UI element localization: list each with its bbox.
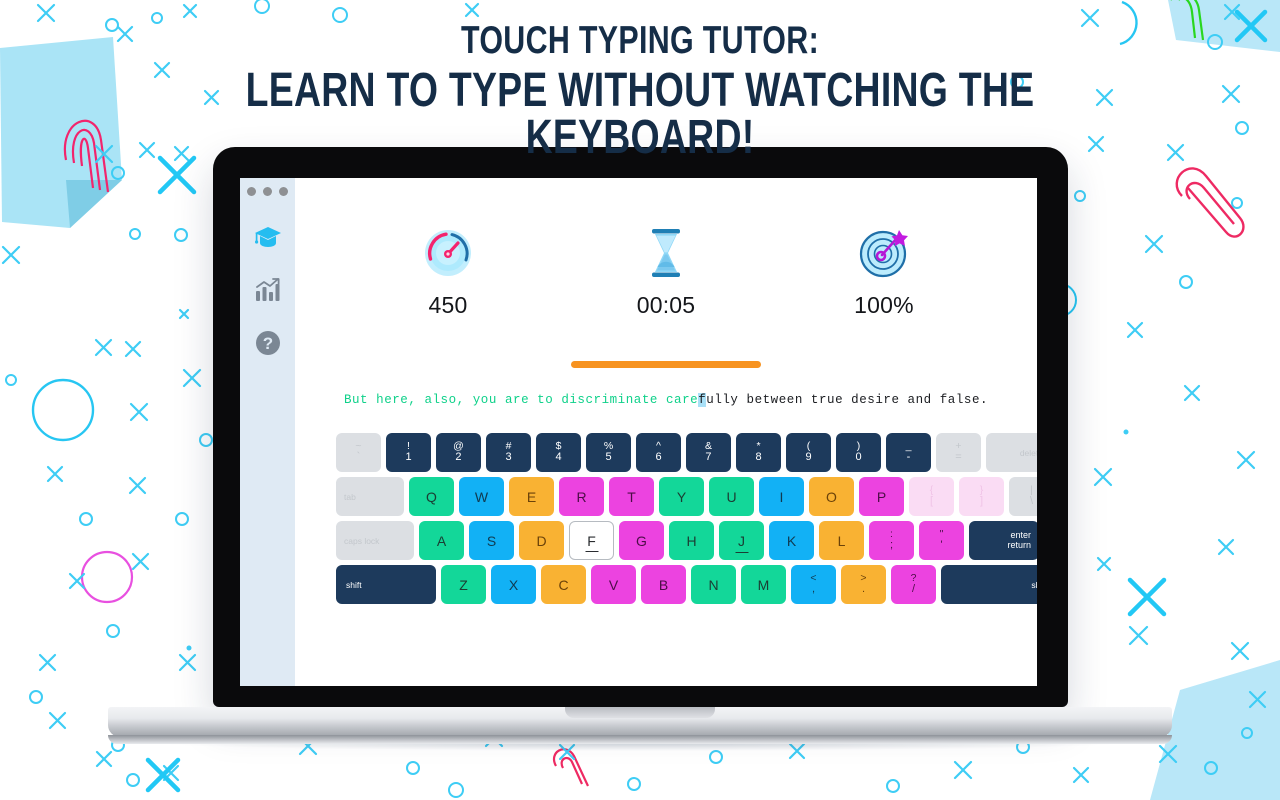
- key-1[interactable]: !1: [386, 433, 431, 472]
- stat-speed: 450: [398, 226, 498, 319]
- key-delete[interactable]: delete: [986, 433, 1037, 472]
- laptop-screen: ?: [240, 178, 1037, 686]
- page-title: TOUCH TYPING TUTOR: LEARN TO TYPE WITHOU…: [0, 22, 1280, 161]
- key-enter[interactable]: enterreturn: [969, 521, 1037, 560]
- remaining-text: ully between true desire and false.: [706, 393, 988, 407]
- key-period[interactable]: >.: [841, 565, 886, 604]
- key-r[interactable]: R: [559, 477, 604, 516]
- key-bracket-right[interactable]: }]: [959, 477, 1004, 516]
- stat-accuracy: 100%: [834, 226, 934, 319]
- headline-line-2: LEARN TO TYPE WITHOUT WATCHING THE KEYBO…: [141, 67, 1139, 161]
- help-circle-icon: ?: [255, 330, 281, 356]
- target-icon: [858, 227, 910, 279]
- key-d[interactable]: D: [519, 521, 564, 560]
- key-6[interactable]: ^6: [636, 433, 681, 472]
- key-slash[interactable]: ?/: [891, 565, 936, 604]
- key-caps-lock[interactable]: caps lock: [336, 521, 414, 560]
- key-t[interactable]: T: [609, 477, 654, 516]
- key-n[interactable]: N: [691, 565, 736, 604]
- key-v[interactable]: V: [591, 565, 636, 604]
- key-comma[interactable]: <,: [791, 565, 836, 604]
- key-y[interactable]: Y: [659, 477, 704, 516]
- typing-text-line: But here, also, you are to discriminate …: [295, 393, 1037, 407]
- app-main: 450 00:: [295, 178, 1037, 686]
- stat-value-accuracy: 100%: [834, 292, 934, 319]
- stat-icon-wrap: [834, 226, 934, 280]
- key-g[interactable]: G: [619, 521, 664, 560]
- key-s[interactable]: S: [469, 521, 514, 560]
- stat-icon-wrap: [398, 226, 498, 280]
- key-8[interactable]: *8: [736, 433, 781, 472]
- key-i[interactable]: I: [759, 477, 804, 516]
- key-7[interactable]: &7: [686, 433, 731, 472]
- key-h[interactable]: H: [669, 521, 714, 560]
- key-q[interactable]: Q: [409, 477, 454, 516]
- key-semicolon[interactable]: :;: [869, 521, 914, 560]
- stat-value-time: 00:05: [616, 292, 716, 319]
- headline-line-1: TOUCH TYPING TUTOR:: [141, 22, 1139, 60]
- laptop-base: [108, 707, 1172, 737]
- key-equals[interactable]: +=: [936, 433, 981, 472]
- key-o[interactable]: O: [809, 477, 854, 516]
- key-bracket-left[interactable]: {[: [909, 477, 954, 516]
- key-m[interactable]: M: [741, 565, 786, 604]
- keyboard-row-numbers: ~` !1 @2 #3 $4 %5 ^6 &7 *8 (9 )0 _- += d…: [336, 433, 996, 472]
- stats-row: 450 00:: [295, 226, 1037, 319]
- window-dot-close[interactable]: [247, 187, 256, 196]
- laptop-foot: [108, 735, 1172, 744]
- key-shift-left[interactable]: shift: [336, 565, 436, 604]
- key-3[interactable]: #3: [486, 433, 531, 472]
- keyboard-row-home: caps lock A S D F G H J K L :; "' enterr…: [336, 521, 996, 560]
- key-quote[interactable]: "': [919, 521, 964, 560]
- speedometer-icon: [422, 227, 474, 279]
- bar-chart-icon: [255, 278, 281, 302]
- progress-bar-wrap: [295, 361, 1037, 368]
- key-e[interactable]: E: [509, 477, 554, 516]
- key-9[interactable]: (9: [786, 433, 831, 472]
- sidebar-item-statistics[interactable]: [253, 275, 283, 305]
- typed-text: But here, also, you are to discriminate …: [344, 393, 698, 407]
- progress-bar: [571, 361, 761, 368]
- key-minus[interactable]: _-: [886, 433, 931, 472]
- key-z[interactable]: Z: [441, 565, 486, 604]
- stat-time: 00:05: [616, 226, 716, 319]
- key-f[interactable]: F: [569, 521, 614, 560]
- keyboard-row-qwerty: tab Q W E R T Y U I O P {[ }] |\: [336, 477, 996, 516]
- graduation-cap-icon: [254, 226, 282, 248]
- virtual-keyboard: ~` !1 @2 #3 $4 %5 ^6 &7 *8 (9 )0 _- += d…: [336, 433, 996, 604]
- key-c[interactable]: C: [541, 565, 586, 604]
- stat-icon-wrap: [616, 226, 716, 280]
- sidebar-nav: ?: [253, 222, 283, 358]
- key-0[interactable]: )0: [836, 433, 881, 472]
- key-x[interactable]: X: [491, 565, 536, 604]
- key-j[interactable]: J: [719, 521, 764, 560]
- key-tab[interactable]: tab: [336, 477, 404, 516]
- keyboard-row-bottom: shift Z X C V B N M <, >. ?/ shift: [336, 565, 996, 604]
- key-u[interactable]: U: [709, 477, 754, 516]
- key-k[interactable]: K: [769, 521, 814, 560]
- hourglass-icon: [643, 227, 689, 279]
- key-p[interactable]: P: [859, 477, 904, 516]
- app-sidebar: ?: [240, 178, 295, 686]
- key-5[interactable]: %5: [586, 433, 631, 472]
- key-shift-right[interactable]: shift: [941, 565, 1037, 604]
- window-dot-maximize[interactable]: [279, 187, 288, 196]
- window-dot-minimize[interactable]: [263, 187, 272, 196]
- key-backtick[interactable]: ~`: [336, 433, 381, 472]
- window-controls: [247, 187, 288, 196]
- key-l[interactable]: L: [819, 521, 864, 560]
- svg-text:?: ?: [262, 334, 272, 353]
- sidebar-item-help[interactable]: ?: [253, 328, 283, 358]
- key-2[interactable]: @2: [436, 433, 481, 472]
- key-4[interactable]: $4: [536, 433, 581, 472]
- key-a[interactable]: A: [419, 521, 464, 560]
- key-b[interactable]: B: [641, 565, 686, 604]
- stat-value-speed: 450: [398, 292, 498, 319]
- key-w[interactable]: W: [459, 477, 504, 516]
- sidebar-item-lessons[interactable]: [253, 222, 283, 252]
- key-backslash[interactable]: |\: [1009, 477, 1037, 516]
- typing-tutor-app: ?: [240, 178, 1037, 686]
